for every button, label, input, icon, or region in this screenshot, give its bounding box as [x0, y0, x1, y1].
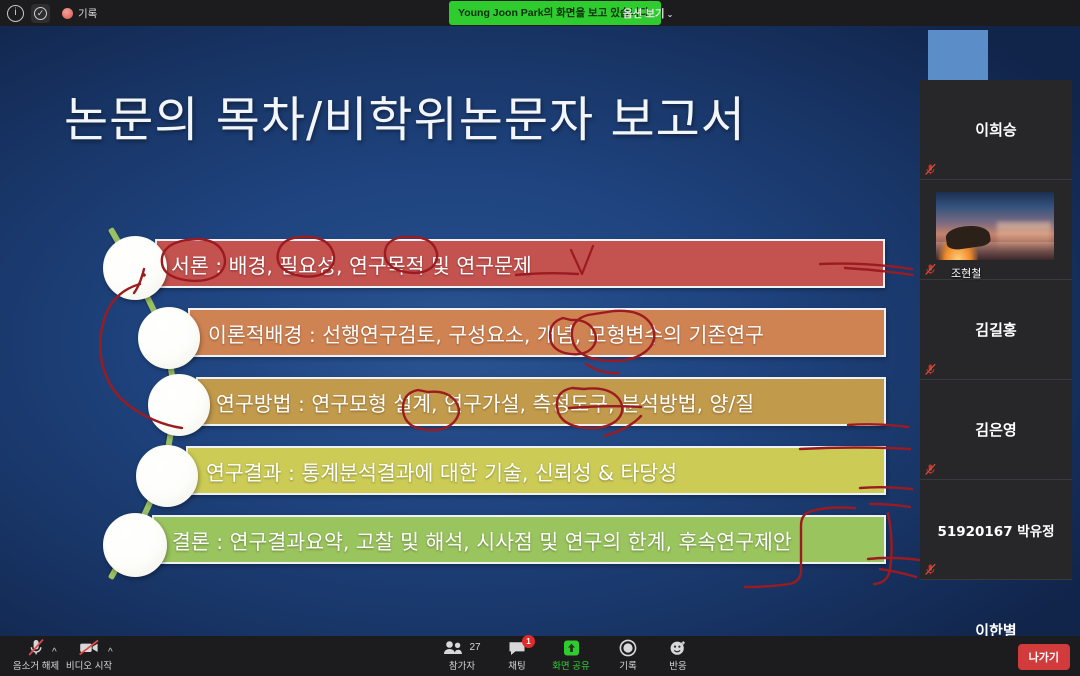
participant-muted-icon — [924, 163, 937, 176]
share-screen-button-label: 화면 공유 — [552, 658, 590, 672]
participants-count: 27 — [469, 642, 480, 653]
step-circle-marker — [138, 307, 200, 369]
step-circle-marker — [103, 236, 167, 300]
record-circle-icon — [619, 638, 637, 657]
mic-muted-icon — [924, 263, 937, 276]
zoom-meeting-window: i ✓ 기록 Young Joon Park의 화면을 보고 있습니다. 옵션 … — [0, 0, 1080, 676]
process-step-label: 결론 : 연구결과요약, 고찰 및 해석, 시사점 및 연구의 한계, 후속연구… — [172, 525, 792, 555]
mic-muted-icon — [924, 463, 937, 476]
participant-name: 51920167 박유정 — [937, 520, 1054, 540]
view-options-label: 옵션 보기 — [623, 8, 665, 20]
mic-options-chevron-icon[interactable]: ^ — [52, 647, 57, 658]
active-speaker-tile[interactable] — [928, 30, 988, 80]
reactions-button-label: 반응 — [669, 658, 686, 672]
encryption-shield-icon[interactable]: ✓ — [31, 4, 50, 23]
recording-indicator[interactable]: 기록 — [62, 6, 97, 21]
slide-title: 논문의 목차/비학위논문자 보고서 — [64, 80, 746, 150]
record-dot-icon — [62, 8, 73, 19]
participant-video-thumbnail — [936, 192, 1054, 260]
reactions-button[interactable]: 반응 — [656, 638, 700, 674]
mute-button-label: 음소거 해제 — [13, 658, 59, 672]
participant-muted-icon — [924, 463, 937, 476]
shared-screen-content: 논문의 목차/비학위논문자 보고서 서론 : 배경, 필요성, 연구목적 및 연… — [0, 26, 1080, 636]
share-screen-icon — [561, 638, 582, 657]
process-step-bar: 연구결과 : 통계분석결과에 대한 기술, 신뢰성 & 타당성 — [186, 446, 886, 495]
chat-bubble-icon: 1 — [508, 638, 526, 657]
participant-tile[interactable]: 김길홍 — [920, 280, 1072, 380]
participant-name: 이희승 — [975, 119, 1016, 140]
step-circle-marker — [148, 374, 210, 436]
meeting-controls-toolbar: 음소거 해제 ^ 비디오 시작 ^ 27 — [0, 636, 1080, 676]
reactions-smiley-icon — [669, 638, 687, 657]
process-step-label: 서론 : 배경, 필요성, 연구목적 및 연구문제 — [171, 249, 532, 279]
participants-button[interactable]: 27 참가자 — [438, 638, 486, 674]
participant-name: 김은영 — [975, 419, 1016, 440]
step-circle-marker — [103, 513, 167, 577]
participant-filmstrip[interactable]: 이희승 조현철 김길홍 김은영 51920167 박유정 — [920, 80, 1072, 579]
process-step-bar: 연구방법 : 연구모형 설계, 연구가설, 측정도구, 분석방법, 양/질 — [196, 377, 886, 426]
meeting-top-bar: i ✓ 기록 Young Joon Park의 화면을 보고 있습니다. 옵션 … — [0, 0, 1080, 26]
participant-name: 김길홍 — [975, 319, 1016, 340]
mic-muted-icon — [924, 163, 937, 176]
participant-tile[interactable]: 51920167 박유정 — [920, 480, 1072, 580]
record-button-label: 기록 — [619, 658, 636, 672]
process-step-label: 연구결과 : 통계분석결과에 대한 기술, 신뢰성 & 타당성 — [206, 456, 677, 486]
start-video-button-label: 비디오 시작 — [66, 658, 112, 672]
participant-muted-icon — [924, 563, 937, 576]
view-options-button[interactable]: 옵션 보기⌄ — [617, 2, 679, 25]
mic-muted-icon — [924, 563, 937, 576]
share-screen-button[interactable]: 화면 공유 — [545, 638, 597, 674]
participant-tile[interactable]: 조현철 — [920, 180, 1072, 280]
participant-name: 조현철 — [936, 265, 981, 281]
participants-icon: 27 — [443, 638, 480, 657]
recording-label: 기록 — [78, 6, 97, 21]
info-icon[interactable]: i — [7, 5, 24, 22]
process-step-label: 연구방법 : 연구모형 설계, 연구가설, 측정도구, 분석방법, 양/질 — [216, 387, 754, 417]
chat-unread-badge: 1 — [522, 635, 535, 648]
chat-button-label: 채팅 — [508, 658, 525, 672]
chevron-down-icon: ⌄ — [667, 10, 674, 19]
record-button[interactable]: 기록 — [606, 638, 650, 674]
process-step-bar: 이론적배경 : 선행연구검토, 구성요소, 개념, 모형변수의 기존연구 — [188, 308, 886, 357]
participants-button-label: 참가자 — [449, 658, 475, 672]
step-circle-marker — [136, 445, 198, 507]
participant-tile[interactable]: 이희승 — [920, 80, 1072, 180]
leave-meeting-button[interactable]: 나가기 — [1018, 644, 1070, 670]
process-step-bar: 서론 : 배경, 필요성, 연구목적 및 연구문제 — [155, 239, 885, 288]
participant-muted-icon — [924, 363, 937, 376]
mic-muted-icon — [924, 363, 937, 376]
chat-button[interactable]: 1 채팅 — [495, 638, 539, 674]
process-step-bar: 결론 : 연구결과요약, 고찰 및 해석, 시사점 및 연구의 한계, 후속연구… — [152, 515, 886, 564]
process-step-label: 이론적배경 : 선행연구검토, 구성요소, 개념, 모형변수의 기존연구 — [208, 318, 764, 348]
microphone-muted-icon — [26, 638, 46, 657]
video-options-chevron-icon[interactable]: ^ — [108, 647, 113, 658]
camera-off-icon — [77, 638, 101, 657]
participant-tile[interactable]: 김은영 — [920, 380, 1072, 480]
participant-muted-icon — [924, 263, 937, 276]
